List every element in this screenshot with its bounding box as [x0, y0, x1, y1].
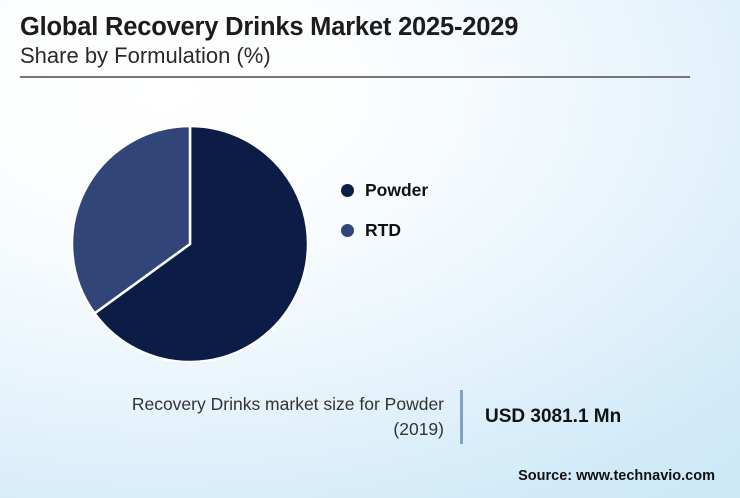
chart-header: Global Recovery Drinks Market 2025-2029 …: [20, 12, 692, 69]
pie-chart: [72, 126, 308, 362]
legend-dot-icon: [341, 224, 354, 237]
legend-item-powder[interactable]: Powder: [341, 170, 541, 210]
header-divider-rule: [20, 76, 690, 78]
page-subtitle: Share by Formulation (%): [20, 43, 692, 69]
legend-item-rtd[interactable]: RTD: [341, 210, 541, 250]
callout-value: USD 3081.1 Mn: [463, 406, 621, 428]
infographic-canvas: Global Recovery Drinks Market 2025-2029 …: [0, 0, 740, 498]
callout-label: Recovery Drinks market size for Powder (…: [110, 392, 460, 442]
legend-label-rtd: RTD: [365, 220, 401, 241]
page-title: Global Recovery Drinks Market 2025-2029: [20, 12, 692, 42]
market-size-callout: Recovery Drinks market size for Powder (…: [110, 388, 670, 446]
legend-dot-icon: [341, 184, 354, 197]
legend-label-powder: Powder: [365, 180, 428, 201]
chart-legend: Powder RTD: [341, 170, 541, 250]
source-attribution: Source: www.technavio.com: [518, 468, 715, 484]
pie-chart-svg: [72, 126, 308, 362]
